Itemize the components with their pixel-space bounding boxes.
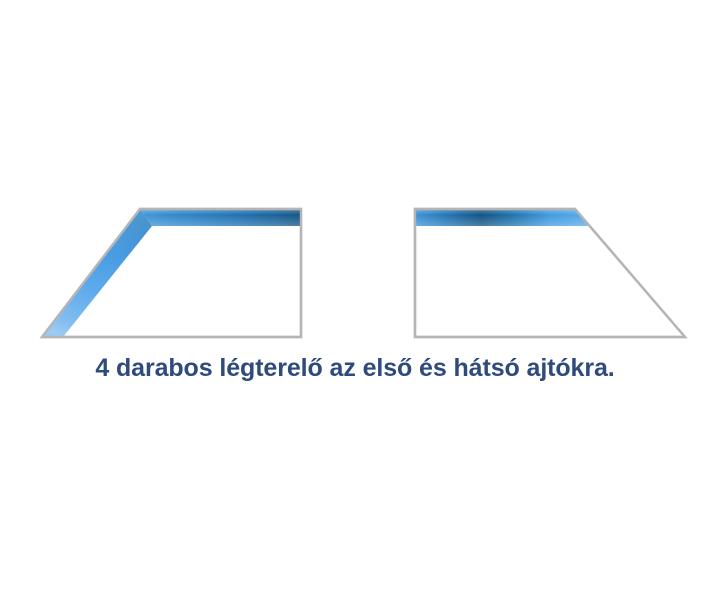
rear-door-deflector-top-shade (415, 209, 589, 226)
front-door-window-shape (42, 209, 301, 337)
front-door-window-outline (42, 209, 301, 337)
front-door-deflector-top-shade (140, 209, 301, 226)
rear-door-window-shape (415, 209, 685, 337)
product-illustration (0, 0, 710, 613)
product-caption: 4 darabos légterelő az első és hátsó ajt… (0, 352, 710, 384)
rear-door-window-outline (415, 209, 685, 337)
